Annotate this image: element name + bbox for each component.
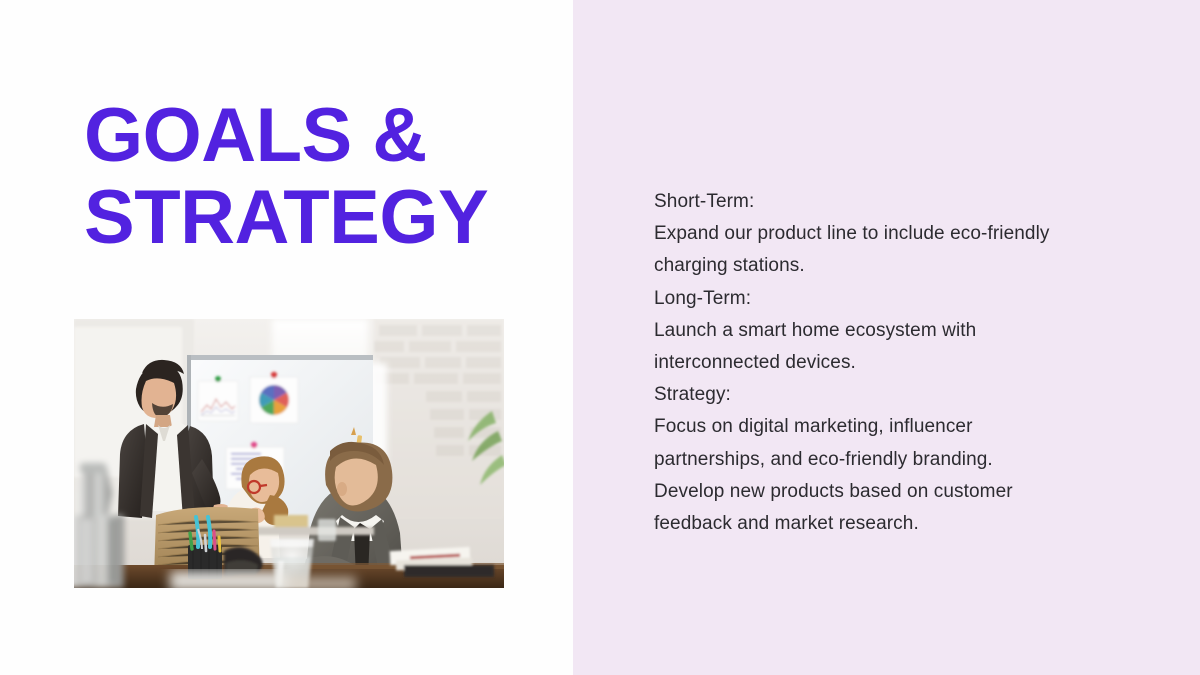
- body-line: Develop new products based on customer: [654, 476, 1094, 508]
- meeting-photo-illustration: [74, 319, 504, 588]
- title-block: GOALS & STRATEGY: [84, 95, 554, 259]
- page-title: GOALS & STRATEGY: [84, 95, 554, 259]
- body-line: charging stations.: [654, 250, 1094, 282]
- body-line: Strategy:: [654, 379, 1094, 411]
- body-line: Expand our product line to include eco-f…: [654, 218, 1094, 250]
- body-line: Long-Term:: [654, 283, 1094, 315]
- body-text-column: Short-Term: Expand our product line to i…: [654, 186, 1094, 540]
- body-line: Launch a smart home ecosystem with: [654, 315, 1094, 347]
- body-line: Short-Term:: [654, 186, 1094, 218]
- body-line: Focus on digital marketing, influencer: [654, 411, 1094, 443]
- body-line: feedback and market research.: [654, 508, 1094, 540]
- body-line: interconnected devices.: [654, 347, 1094, 379]
- meeting-photo: [74, 319, 504, 588]
- body-line: partnerships, and eco-friendly branding.: [654, 444, 1094, 476]
- slide-canvas: GOALS & STRATEGY: [0, 0, 1200, 675]
